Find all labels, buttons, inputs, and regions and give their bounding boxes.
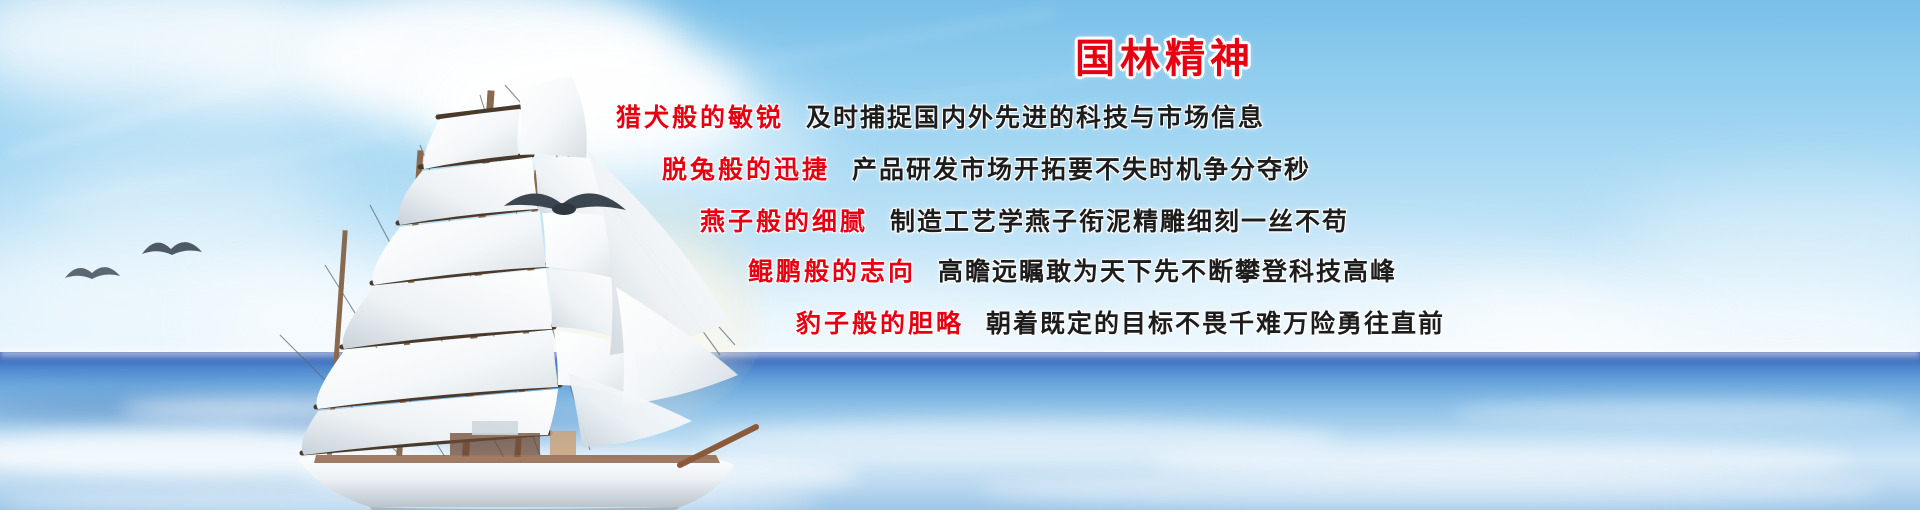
text-content: 国林精神 猎犬般的敏锐及时捕捉国内外先进的科技与市场信息 脱兔般的迅捷产品研发市… xyxy=(600,0,1920,510)
spirit-highlight: 豹子般的胆略 xyxy=(796,311,964,338)
spirit-description: 产品研发市场开拓要不失时机争分夺秒 xyxy=(852,157,1311,184)
spirit-line: 猎犬般的敏锐及时捕捉国内外先进的科技与市场信息 xyxy=(616,98,1265,134)
spirit-description: 朝着既定的目标不畏千难万险勇往直前 xyxy=(986,311,1445,338)
spirit-description: 制造工艺学燕子衔泥精雕细刻一丝不苟 xyxy=(890,209,1349,236)
spirit-line: 豹子般的胆略朝着既定的目标不畏千难万险勇往直前 xyxy=(796,304,1445,340)
spirit-highlight: 猎犬般的敏锐 xyxy=(616,105,784,132)
spirit-highlight: 鲲鹏般的志向 xyxy=(748,259,916,286)
spirit-line: 脱兔般的迅捷产品研发市场开拓要不失时机争分夺秒 xyxy=(662,150,1311,186)
company-spirit-banner: 国林精神 猎犬般的敏锐及时捕捉国内外先进的科技与市场信息 脱兔般的迅捷产品研发市… xyxy=(0,0,1920,510)
spirit-highlight: 脱兔般的迅捷 xyxy=(662,157,830,184)
seagull xyxy=(62,254,124,290)
spirit-description: 高瞻远瞩敢为天下先不断攀登科技高峰 xyxy=(938,259,1397,286)
spirit-description: 及时捕捉国内外先进的科技与市场信息 xyxy=(806,105,1265,132)
spirit-line: 燕子般的细腻制造工艺学燕子衔泥精雕细刻一丝不苟 xyxy=(700,202,1349,238)
page-title: 国林精神 xyxy=(600,26,1730,84)
spirit-highlight: 燕子般的细腻 xyxy=(700,209,868,236)
spirit-line: 鲲鹏般的志向高瞻远瞩敢为天下先不断攀登科技高峰 xyxy=(748,252,1397,288)
seagull xyxy=(138,228,208,268)
